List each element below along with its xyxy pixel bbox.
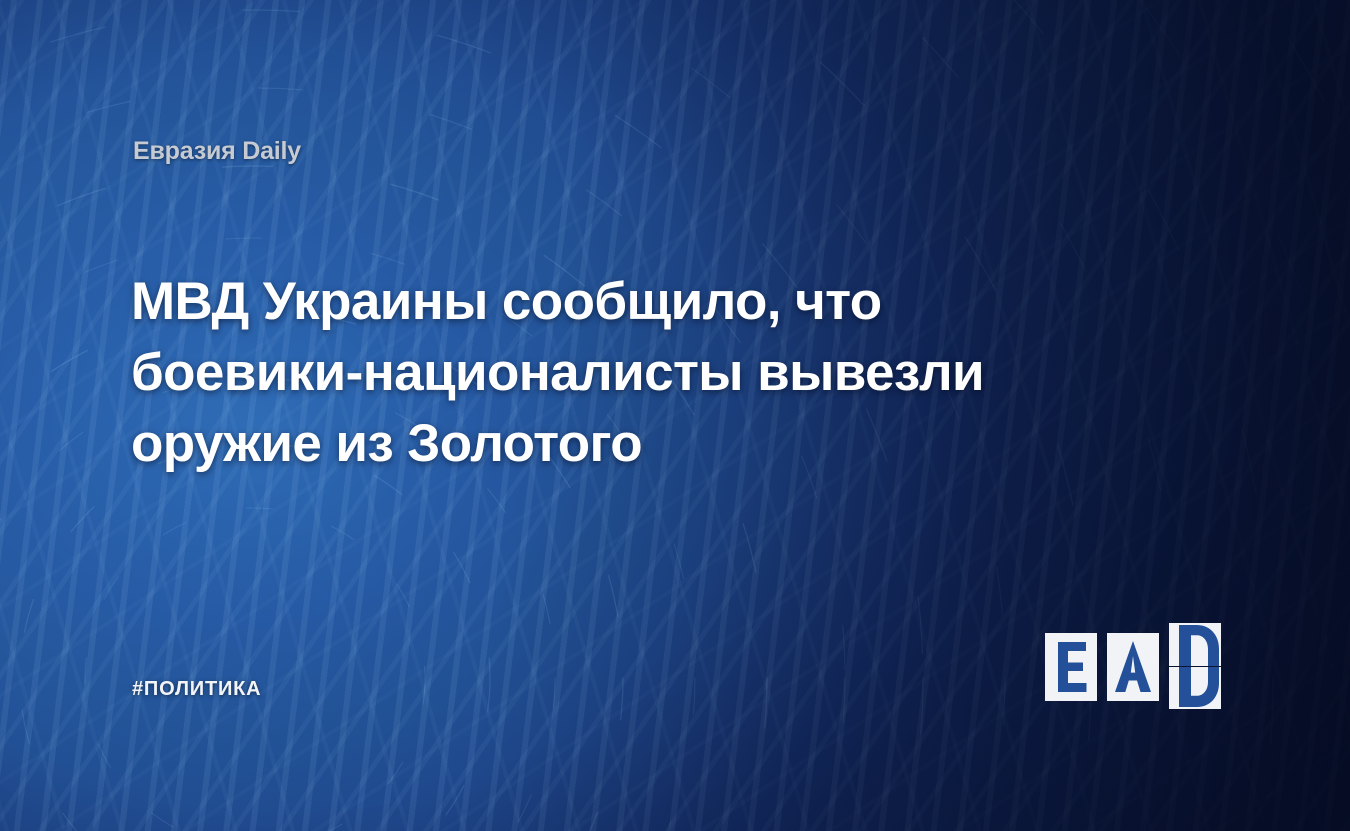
logo-letter-d-top-tile — [1169, 623, 1221, 666]
category-tag: #ПОЛИТИКА — [132, 678, 261, 701]
logo-letter-d-bottom-tile — [1169, 667, 1221, 709]
headline-text: МВД Украины сообщило, что боевики-национ… — [131, 266, 1051, 479]
card-content: Евразия Daily МВД Украины сообщило, что … — [0, 0, 1350, 831]
logo-letter-a-tile — [1107, 633, 1159, 701]
publisher-name: Евразия Daily — [133, 137, 301, 166]
logo-letter-e-tile — [1045, 633, 1097, 701]
news-card: Евразия Daily МВД Украины сообщило, что … — [0, 0, 1350, 831]
eadaily-logo — [1045, 623, 1221, 709]
